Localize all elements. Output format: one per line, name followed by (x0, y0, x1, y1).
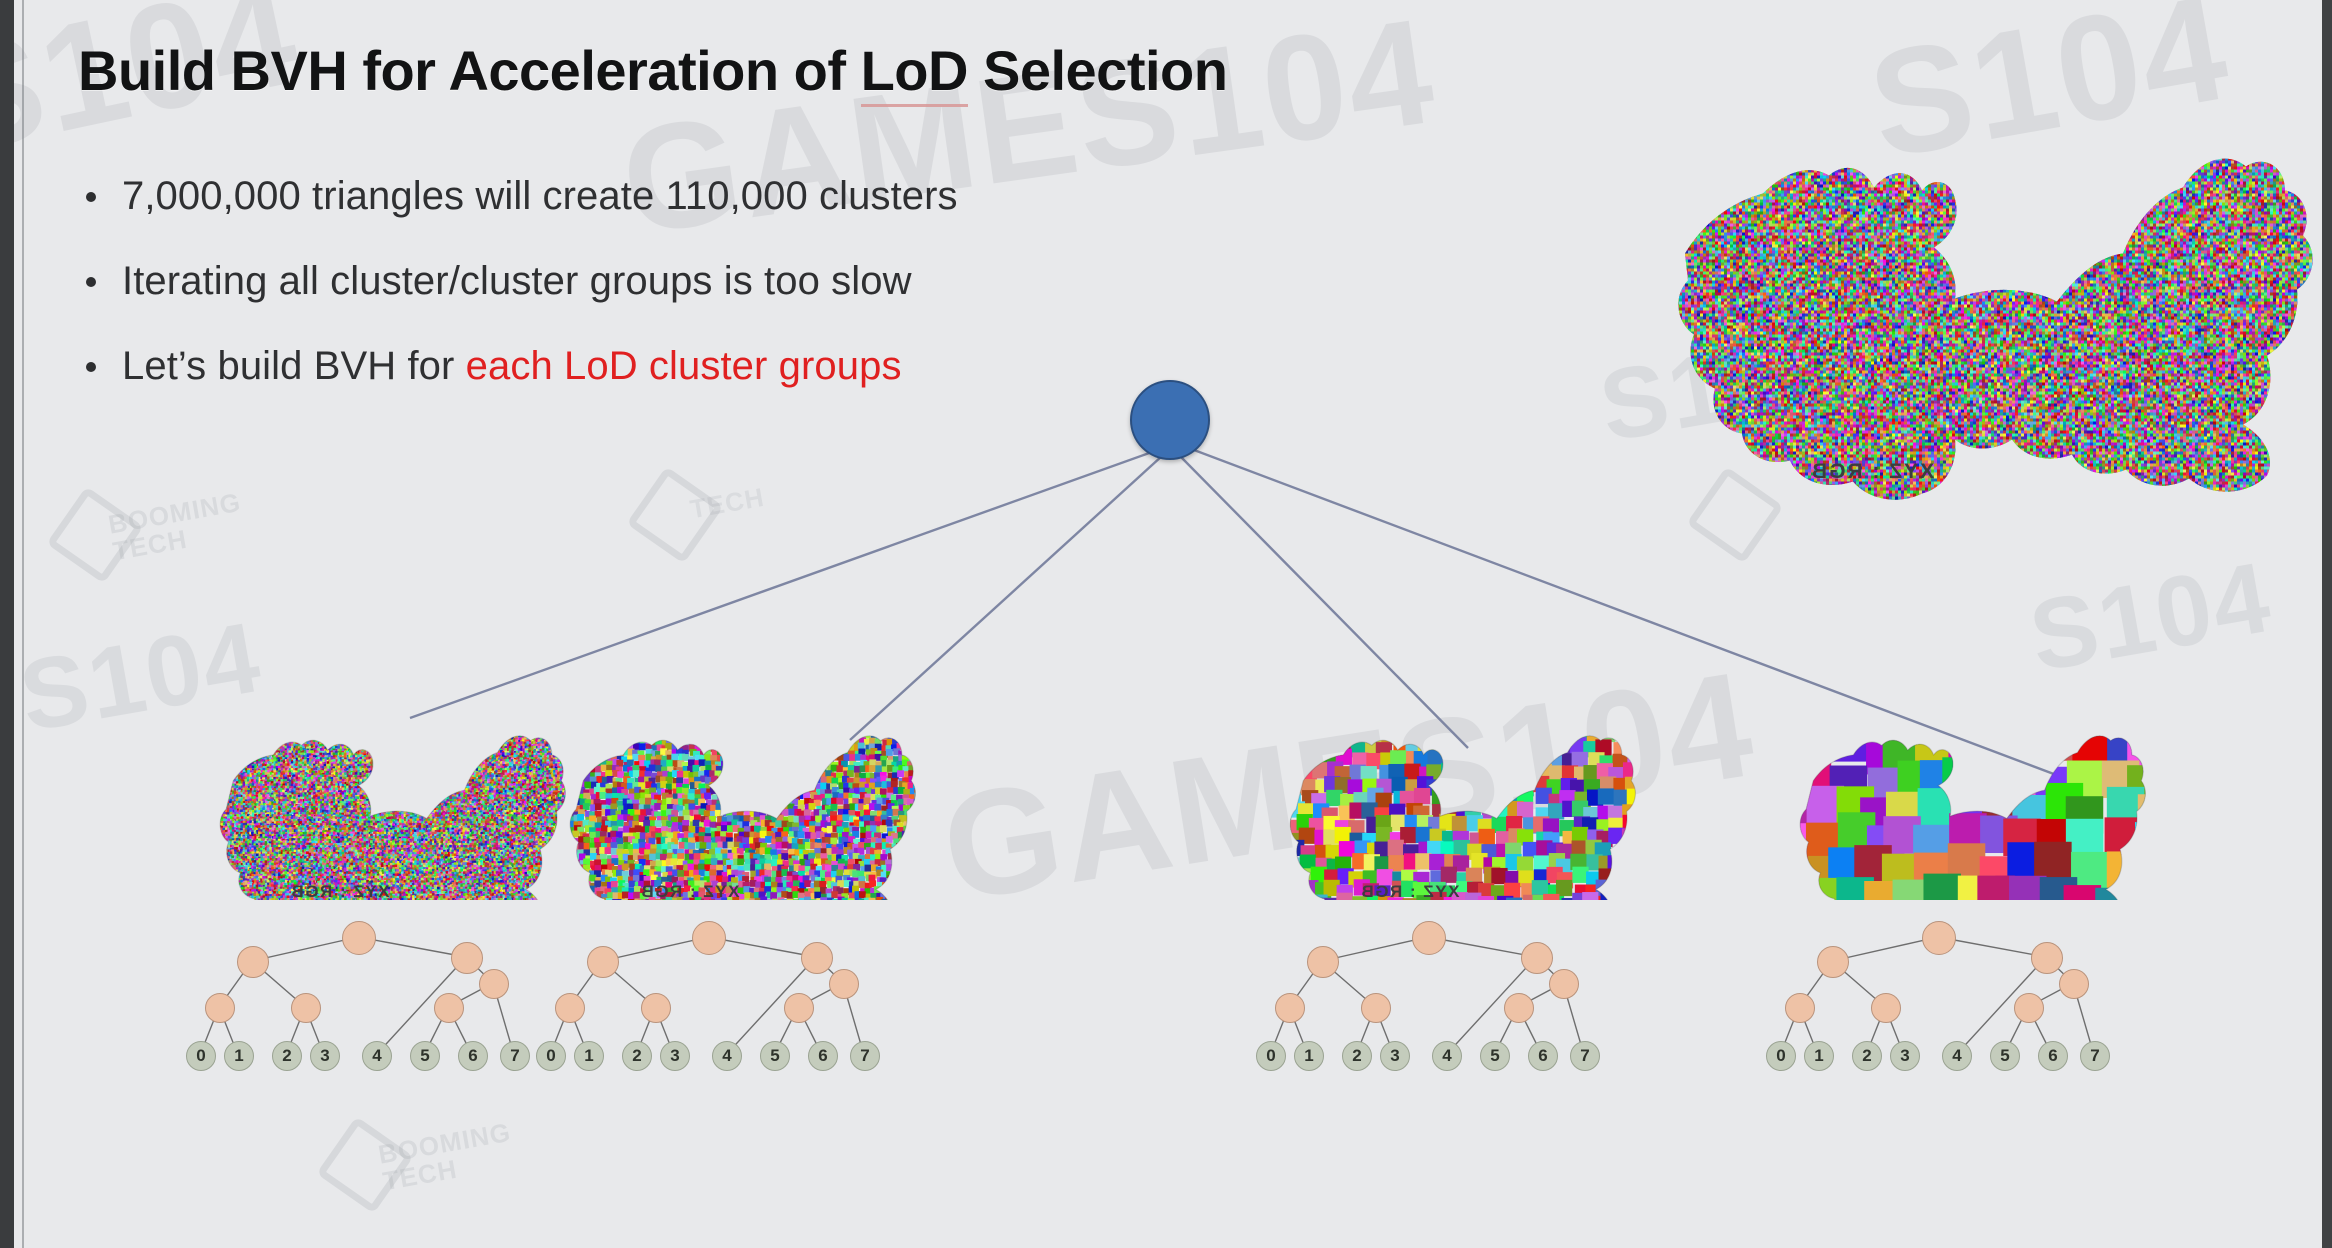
bullet-item-triangles: 7,000,000 triangles will create 110,000 … (78, 170, 958, 223)
bvh-node-level2-2[interactable] (1504, 993, 1534, 1023)
bvh-node-level2-0[interactable] (205, 993, 235, 1023)
bvh-leaf-node-4[interactable]: 4 (1432, 1041, 1462, 1071)
bvh-leaf-node-5[interactable]: 5 (410, 1041, 440, 1071)
bvh-node-level2-2[interactable] (784, 993, 814, 1023)
bvh-leaf-node-4[interactable]: 4 (1942, 1041, 1972, 1071)
bvh-leaf-node-2[interactable]: 2 (1852, 1041, 1882, 1071)
bullet-dot-icon (86, 277, 96, 287)
bvh-subtree-2: 01234567 (1260, 915, 1620, 1085)
bvh-leaf-node-4[interactable]: 4 (362, 1041, 392, 1071)
bvh-leaf-node-4[interactable]: 4 (712, 1041, 742, 1071)
bvh-node-level2-1[interactable] (1361, 993, 1391, 1023)
lod-panel-3: 01234567 (1770, 700, 2170, 1085)
bvh-leaf-node-2[interactable]: 2 (272, 1041, 302, 1071)
lod-panel-2: XYZ : RGB 01234567 (1260, 700, 1660, 1085)
dragon-axis-label: XYZ : RGB (1810, 460, 1934, 484)
bvh-node-root[interactable] (692, 921, 726, 955)
dragon-mesh-lod3 (1770, 700, 2170, 900)
dragon-mesh-fine (1640, 130, 2330, 530)
bvh-leaf-node-5[interactable]: 5 (760, 1041, 790, 1071)
bvh-node-level1-0[interactable] (1307, 946, 1339, 978)
bvh-leaf-node-6[interactable]: 6 (2038, 1041, 2068, 1071)
watermark-logo (324, 1124, 405, 1205)
bvh-subtree-3: 01234567 (1770, 915, 2130, 1085)
bullet-item-buildbvh: Let’s build BVH for each LoD cluster gro… (78, 340, 958, 393)
bvh-node-level2-3[interactable] (2059, 969, 2089, 999)
bvh-node-level1-1[interactable] (801, 942, 833, 974)
bvh-node-level2-0[interactable] (1785, 993, 1815, 1023)
dragon-mesh-lod0 (190, 700, 590, 900)
bullet-dot-icon (86, 362, 96, 372)
bvh-node-level1-0[interactable] (237, 946, 269, 978)
bvh-node-level2-1[interactable] (641, 993, 671, 1023)
bvh-node-level2-3[interactable] (479, 969, 509, 999)
frame-bezel-right (2322, 0, 2332, 1248)
dragon-mesh-lod2 (1260, 700, 1660, 900)
bvh-leaf-node-7[interactable]: 7 (1570, 1041, 1600, 1071)
bvh-leaf-node-7[interactable]: 7 (500, 1041, 530, 1071)
bullet-dot-icon (86, 192, 96, 202)
bvh-leaf-node-0[interactable]: 0 (1766, 1041, 1796, 1071)
watermark-logo (54, 494, 135, 575)
bvh-leaf-node-2[interactable]: 2 (622, 1041, 652, 1071)
bvh-leaf-node-0[interactable]: 0 (186, 1041, 216, 1071)
bvh-leaf-node-6[interactable]: 6 (808, 1041, 838, 1071)
bvh-node-level1-0[interactable] (1817, 946, 1849, 978)
dragon-axis-label: XYZ : RGB (640, 882, 739, 902)
bvh-leaf-node-3[interactable]: 3 (1380, 1041, 1410, 1071)
bvh-leaf-node-2[interactable]: 2 (1342, 1041, 1372, 1071)
dragon-mesh-lod1 (540, 700, 940, 900)
hero-dragon-model: XYZ : RGB (1640, 130, 2330, 530)
bvh-leaf-node-6[interactable]: 6 (458, 1041, 488, 1071)
bullet-text: 7,000,000 triangles will create 110,000 … (122, 170, 958, 223)
bullet-text: Iterating all cluster/cluster groups is … (122, 255, 912, 308)
bvh-leaf-node-7[interactable]: 7 (850, 1041, 880, 1071)
lod-panel-1: XYZ : RGB 01234567 (540, 700, 940, 1085)
bullet-list: 7,000,000 triangles will create 110,000 … (78, 170, 958, 424)
dragon-axis-label: XYZ : RGB (1360, 882, 1459, 902)
bvh-leaf-node-5[interactable]: 5 (1990, 1041, 2020, 1071)
bvh-node-level2-0[interactable] (1275, 993, 1305, 1023)
bullet-item-iterating: Iterating all cluster/cluster groups is … (78, 255, 958, 308)
bvh-subtree-1: 01234567 (540, 915, 900, 1085)
bvh-leaf-node-5[interactable]: 5 (1480, 1041, 1510, 1071)
bvh-root-node[interactable] (1130, 380, 1210, 460)
bvh-node-level1-1[interactable] (451, 942, 483, 974)
bvh-node-root[interactable] (1922, 921, 1956, 955)
bvh-node-level2-2[interactable] (2014, 993, 2044, 1023)
presentation-slide: S104 GAMES104 S104 S104 S104 GAMES104 S1… (0, 0, 2332, 1248)
bvh-leaf-node-0[interactable]: 0 (1256, 1041, 1286, 1071)
bvh-leaf-node-3[interactable]: 3 (1890, 1041, 1920, 1071)
bvh-leaf-node-3[interactable]: 3 (660, 1041, 690, 1071)
bvh-node-level2-3[interactable] (1549, 969, 1579, 999)
bvh-node-level2-0[interactable] (555, 993, 585, 1023)
bvh-leaf-node-6[interactable]: 6 (1528, 1041, 1558, 1071)
bvh-leaf-node-1[interactable]: 1 (224, 1041, 254, 1071)
page-title: Build BVH for Acceleration of LoD Select… (78, 38, 1227, 103)
frame-bezel-left (0, 0, 14, 1248)
bvh-node-level2-1[interactable] (291, 993, 321, 1023)
bvh-leaf-node-1[interactable]: 1 (1804, 1041, 1834, 1071)
bvh-node-root[interactable] (342, 921, 376, 955)
page-title-post: Selection (968, 39, 1228, 102)
bvh-node-level1-1[interactable] (1521, 942, 1553, 974)
bvh-leaf-node-0[interactable]: 0 (536, 1041, 566, 1071)
page-title-lod: LoD (861, 39, 968, 107)
bvh-leaf-node-7[interactable]: 7 (2080, 1041, 2110, 1071)
watermark-games104: S104 (2022, 540, 2280, 695)
bvh-node-level1-0[interactable] (587, 946, 619, 978)
watermark-logo (634, 474, 715, 555)
lod-panel-0: XYZ : RGB 01234567 (190, 700, 590, 1085)
bvh-node-root[interactable] (1412, 921, 1446, 955)
bvh-node-level1-1[interactable] (2031, 942, 2063, 974)
bvh-leaf-node-3[interactable]: 3 (310, 1041, 340, 1071)
page-title-pre: Build BVH for Acceleration of (78, 39, 861, 102)
dragon-axis-label: XYZ : RGB (290, 882, 389, 902)
bvh-node-level2-1[interactable] (1871, 993, 1901, 1023)
bvh-subtree-0: 01234567 (190, 915, 550, 1085)
bvh-node-level2-3[interactable] (829, 969, 859, 999)
frame-edge-line (22, 0, 24, 1248)
bvh-leaf-node-1[interactable]: 1 (1294, 1041, 1324, 1071)
bvh-leaf-node-1[interactable]: 1 (574, 1041, 604, 1071)
bullet-text-prefix: Let’s build BVH for (122, 344, 466, 388)
bvh-node-level2-2[interactable] (434, 993, 464, 1023)
bullet-text-highlight: each LoD cluster groups (466, 344, 902, 388)
